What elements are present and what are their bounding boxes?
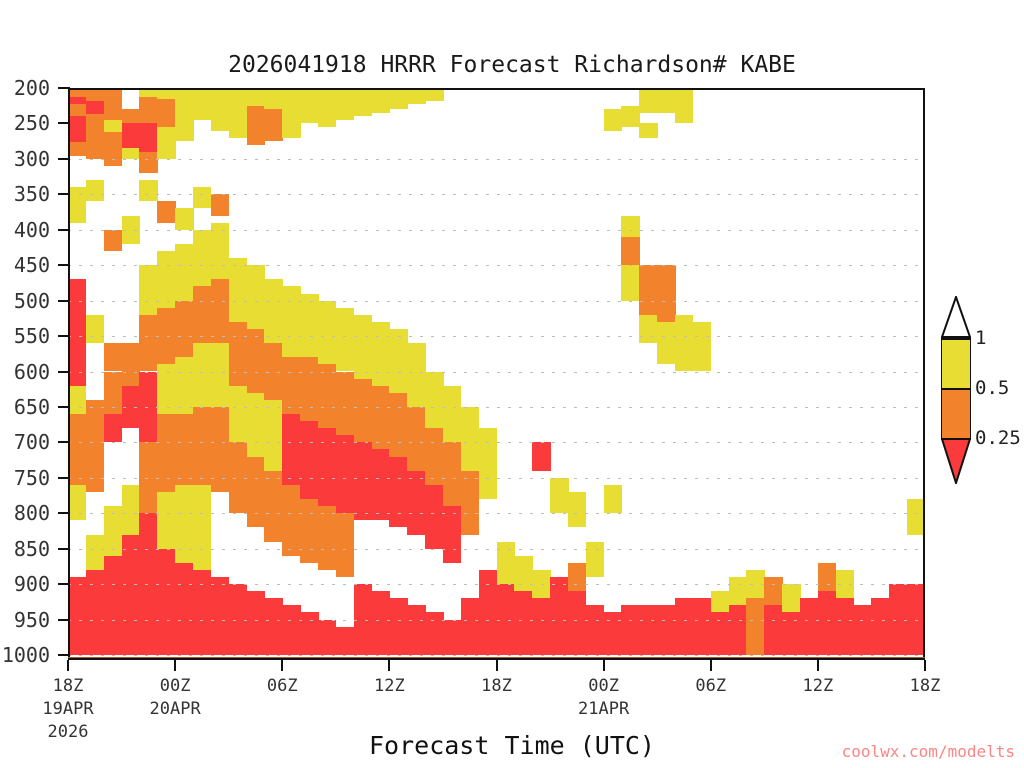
heatmap-cell [282, 116, 300, 137]
heatmap-cell [68, 386, 86, 414]
colorbar-bottom-arrow [941, 438, 971, 484]
heatmap-plot-area [68, 88, 925, 660]
x-axis-tick-label: 18Z [910, 676, 941, 696]
y-axis-tick [58, 300, 70, 302]
heatmap-cell [211, 407, 229, 492]
y-axis-tick [58, 619, 70, 621]
heatmap-cell [407, 407, 425, 471]
gridline [68, 159, 925, 160]
heatmap-cell [104, 132, 122, 159]
heatmap-cell [264, 88, 282, 109]
gridline [68, 194, 925, 195]
heatmap-cell [586, 605, 604, 655]
y-axis-tick-label: 250 [0, 111, 50, 135]
chart-title: 2026041918 HRRR Forecast Richardson# KAB… [0, 52, 1024, 78]
heatmap-cell [336, 308, 354, 372]
heatmap-cell [229, 258, 247, 322]
colorbar: 10.50.25 [941, 296, 971, 486]
heatmap-cell [372, 322, 390, 386]
heatmap-cell [211, 223, 229, 280]
heatmap-cell [461, 407, 479, 471]
heatmap-cell [193, 230, 211, 287]
x-axis-tick-label: 12Z [374, 676, 405, 696]
y-axis-tick [58, 371, 70, 373]
heatmap-cell [122, 123, 140, 148]
heatmap-cell [157, 127, 175, 159]
heatmap-cell [461, 598, 479, 655]
heatmap-cell [372, 449, 390, 520]
y-axis-tick-label: 300 [0, 147, 50, 171]
heatmap-cell [568, 591, 586, 655]
heatmap-cell [300, 421, 318, 499]
heatmap-cell [514, 556, 532, 591]
heatmap-cell [443, 442, 461, 506]
heatmap-cell [354, 442, 372, 520]
heatmap-cell [782, 584, 800, 612]
heatmap-cell [746, 598, 764, 655]
y-axis-tick-label: 950 [0, 608, 50, 632]
heatmap-cell [247, 106, 265, 145]
heatmap-cell [407, 471, 425, 535]
heatmap-cell [318, 301, 336, 365]
heatmap-cell [443, 506, 461, 563]
colorbar-label: 0.25 [975, 427, 1021, 449]
colorbar-level-line [941, 388, 971, 390]
x-axis-tick [388, 660, 390, 671]
heatmap-cell [282, 485, 300, 556]
colorbar-label: 0.5 [975, 377, 1009, 399]
heatmap-cell [657, 88, 675, 113]
heatmap-cell [318, 88, 336, 127]
heatmap-cell [104, 556, 122, 655]
heatmap-cell [175, 357, 193, 414]
heatmap-cell [318, 620, 336, 655]
gridline [68, 513, 925, 514]
x-axis-tick [496, 660, 498, 671]
terrain-band [68, 657, 925, 658]
colorbar-segment-yellow [941, 338, 971, 388]
heatmap-cell [193, 88, 211, 120]
y-axis-tick [58, 229, 70, 231]
x-axis-date-label: 20APR [150, 699, 201, 719]
heatmap-cell [282, 414, 300, 485]
heatmap-cell [68, 129, 86, 142]
heatmap-cell [247, 329, 265, 393]
heatmap-cell [68, 142, 86, 156]
heatmap-cell [68, 485, 86, 520]
heatmap-cell [264, 598, 282, 655]
gridline [68, 549, 925, 550]
heatmap-cell [139, 97, 157, 124]
heatmap-cell [175, 88, 193, 113]
heatmap-cell [639, 265, 657, 315]
heatmap-cell [407, 605, 425, 655]
heatmap-cell [657, 322, 675, 365]
heatmap-cell [675, 315, 693, 372]
heatmap-cell [193, 407, 211, 485]
heatmap-cell [318, 506, 336, 570]
heatmap-cell [389, 598, 407, 655]
y-axis-tick-label: 600 [0, 360, 50, 384]
heatmap-cell [443, 386, 461, 443]
heatmap-cell [175, 244, 193, 301]
heatmap-cell [532, 598, 550, 655]
heatmap-cell [389, 88, 407, 109]
heatmap-cell [407, 343, 425, 407]
x-axis-tick [924, 660, 926, 671]
heatmap-cell [764, 605, 782, 655]
y-axis-tick [58, 87, 70, 89]
heatmap-cell [354, 315, 372, 379]
heatmap-cell [800, 598, 818, 655]
heatmap-cell [157, 99, 175, 127]
heatmap-cell [122, 343, 140, 386]
y-axis-tick [58, 583, 70, 585]
heatmap-cell [818, 563, 836, 591]
heatmap-cell [336, 627, 354, 655]
heatmap-cell [479, 428, 497, 499]
y-axis-tick [58, 158, 70, 160]
gridline [68, 620, 925, 621]
heatmap-cell [86, 101, 104, 114]
heatmap-cell [211, 194, 229, 215]
heatmap-cell [104, 230, 122, 251]
heatmap-cell [122, 109, 140, 123]
heatmap-cell [175, 563, 193, 655]
heatmap-cell [86, 88, 104, 101]
heatmap-cell [461, 471, 479, 535]
y-axis-tick [58, 654, 70, 656]
heatmap-cell [104, 88, 122, 101]
heatmap-cell [621, 106, 639, 127]
heatmap-cell [247, 265, 265, 329]
y-axis-tick-label: 750 [0, 466, 50, 490]
heatmap-cell [86, 132, 104, 159]
heatmap-cell [836, 598, 854, 655]
y-axis-tick-label: 800 [0, 501, 50, 525]
gridline [68, 655, 925, 656]
heatmap-cell [86, 180, 104, 201]
heatmap-cell [193, 343, 211, 407]
heatmap-cell [193, 286, 211, 343]
heatmap-cell [229, 386, 247, 443]
heatmap-cell [247, 88, 265, 106]
heatmap-cell [139, 152, 157, 173]
colorbar-level-line [941, 338, 971, 340]
heatmap-cell [639, 605, 657, 655]
y-axis-tick [58, 335, 70, 337]
y-axis-tick [58, 406, 70, 408]
heatmap-cell [157, 549, 175, 655]
heatmap-cell [300, 357, 318, 421]
heatmap-cell [425, 428, 443, 485]
heatmap-cell [639, 88, 657, 113]
y-axis-tick [58, 122, 70, 124]
heatmap-cell [264, 471, 282, 542]
x-axis-tick-label: 00Z [160, 676, 191, 696]
heatmap-cell [139, 123, 157, 151]
x-axis-tick-label: 06Z [267, 676, 298, 696]
heatmap-cell [104, 414, 122, 442]
x-axis-tick [174, 660, 176, 671]
heatmap-cell [139, 180, 157, 201]
gridline [68, 372, 925, 373]
x-axis-tick-label: 12Z [803, 676, 834, 696]
heatmap-cell [229, 322, 247, 386]
heatmap-cell [175, 485, 193, 563]
heatmap-cell [68, 414, 86, 442]
heatmap-cell [657, 605, 675, 655]
heatmap-cell [175, 208, 193, 229]
heatmap-cell [407, 88, 425, 104]
colorbar-label: 1 [975, 327, 986, 349]
heatmap-cell [675, 88, 693, 123]
heatmap-cell [389, 393, 407, 457]
gridline [68, 407, 925, 408]
x-axis-date-label: 21APR [578, 699, 629, 719]
heatmap-cell [818, 591, 836, 655]
heatmap-cell [657, 265, 675, 322]
heatmap-cell [86, 114, 104, 132]
heatmap-cell [139, 265, 157, 315]
heatmap-cell [621, 216, 639, 237]
credit-watermark: coolwx.com/modelts [0, 742, 1015, 761]
heatmap-cell [443, 620, 461, 655]
heatmap-cell [211, 279, 229, 343]
heatmap-cell [211, 88, 229, 131]
heatmap-cell [425, 88, 443, 101]
heatmap-cell [68, 116, 86, 129]
heatmap-cell [764, 577, 782, 605]
heatmap-cell [336, 88, 354, 120]
heatmap-cell [514, 591, 532, 655]
heatmap-cell [157, 88, 175, 99]
heatmap-cell [675, 598, 693, 655]
heatmap-cell [389, 457, 407, 528]
heatmap-cell [693, 322, 711, 372]
heatmap-cell [907, 499, 925, 513]
heatmap-cell [425, 372, 443, 429]
heatmap-cell [157, 201, 175, 222]
heatmap-cell [139, 88, 157, 97]
y-axis-tick-label: 450 [0, 253, 50, 277]
heatmap-cell [336, 372, 354, 436]
y-axis-tick [58, 477, 70, 479]
heatmap-cell [193, 187, 211, 208]
heatmap-cell [175, 414, 193, 485]
x-axis-tick [67, 660, 69, 671]
heatmap-cell [264, 279, 282, 343]
x-axis-tick-label: 00Z [588, 676, 619, 696]
heatmap-cell [372, 386, 390, 450]
heatmap-cell [604, 109, 622, 130]
y-axis-tick [58, 193, 70, 195]
heatmap-cell [122, 148, 140, 159]
heatmap-cell [229, 88, 247, 138]
heatmap-cell [372, 88, 390, 113]
heatmap-cell [211, 577, 229, 655]
heatmap-cell [157, 251, 175, 308]
heatmap-cell [157, 492, 175, 549]
heatmap-cell [372, 591, 390, 655]
y-axis-tick-label: 900 [0, 572, 50, 596]
y-axis-tick-label: 500 [0, 289, 50, 313]
heatmap-cell [479, 570, 497, 655]
heatmap-cell [247, 393, 265, 457]
x-axis-tick [710, 660, 712, 671]
y-axis-tick-label: 700 [0, 430, 50, 454]
heatmap-cell [86, 315, 104, 343]
heatmap-cell [568, 563, 586, 591]
x-axis-tick [281, 660, 283, 671]
y-axis-labels: 2002503003504004505005506006507007508008… [0, 0, 56, 768]
gridline [68, 265, 925, 266]
heatmap-cell [532, 442, 550, 470]
heatmap-cell [68, 88, 86, 97]
heatmap-cell [621, 265, 639, 300]
heatmap-cell [175, 301, 193, 358]
heatmap-cell [247, 591, 265, 655]
heatmap-cell [550, 577, 568, 655]
y-axis-tick-label: 400 [0, 218, 50, 242]
heatmap-cell [550, 478, 568, 513]
heatmap-cell [193, 485, 211, 570]
gridline [68, 442, 925, 443]
heatmap-cell [639, 123, 657, 137]
x-axis-tick-label: 06Z [695, 676, 726, 696]
heatmap-cell [318, 428, 336, 506]
colorbar-segment-orange [941, 388, 971, 438]
heatmap-cell [604, 485, 622, 513]
heatmap-cell [193, 570, 211, 655]
y-axis-tick [58, 264, 70, 266]
heatmap-cell [282, 88, 300, 116]
heatmap-cell [211, 343, 229, 407]
heatmap-cell [854, 605, 872, 655]
gridline [68, 336, 925, 337]
heatmap-cell [586, 542, 604, 577]
heatmap-cell [282, 605, 300, 655]
gridline [68, 301, 925, 302]
gridline [68, 584, 925, 585]
gridline [68, 478, 925, 479]
heatmap-cell [354, 379, 372, 443]
heatmap-cell [122, 535, 140, 655]
y-axis-tick [58, 441, 70, 443]
heatmap-cell [318, 364, 336, 428]
y-axis-tick-label: 200 [0, 76, 50, 100]
heatmap-cell [354, 88, 372, 116]
heatmap-cell [86, 535, 104, 570]
heatmap-cell [86, 442, 104, 492]
heatmap-cell [264, 400, 282, 471]
heatmap-cell [711, 591, 729, 612]
heatmap-cell [175, 113, 193, 141]
y-axis-tick [58, 512, 70, 514]
heatmap-cell [300, 88, 318, 123]
heatmap-cell [300, 294, 318, 358]
chart-root: 2026041918 HRRR Forecast Richardson# KAB… [0, 0, 1024, 768]
y-axis-tick-label: 550 [0, 324, 50, 348]
heatmap-cell [282, 357, 300, 414]
heatmap-cell [247, 457, 265, 528]
heatmap-cell [729, 577, 747, 605]
heatmap-cell [282, 286, 300, 357]
heatmap-cell [425, 485, 443, 549]
heatmap-cell [104, 120, 122, 132]
heatmap-cell [568, 492, 586, 527]
y-axis-tick-label: 350 [0, 182, 50, 206]
heatmap-cell [122, 485, 140, 535]
x-axis-tick [603, 660, 605, 671]
heatmap-cell [300, 499, 318, 563]
heatmap-cell [68, 104, 86, 117]
heatmap-cell [693, 598, 711, 655]
heatmap-cell [621, 605, 639, 655]
heatmap-cell [639, 315, 657, 343]
y-axis-tick-label: 650 [0, 395, 50, 419]
heatmap-cell [907, 513, 925, 534]
heatmap-cell [104, 343, 122, 371]
x-axis-tick-label: 18Z [481, 676, 512, 696]
heatmap-cell [157, 414, 175, 492]
heatmap-cell [68, 279, 86, 385]
x-axis-tick-label: 18Z [53, 676, 84, 696]
heatmap-cell [336, 513, 354, 577]
heatmap-cell [871, 598, 889, 655]
heatmap-cell [139, 315, 157, 372]
heatmap-cell [68, 577, 86, 655]
y-axis-tick-label: 1000 [0, 643, 50, 667]
heatmap-cell [104, 101, 122, 120]
gridline [68, 230, 925, 231]
heatmap-cell [68, 198, 86, 219]
heatmap-cell [104, 159, 122, 166]
heatmap-cell [729, 605, 747, 655]
heatmap-cell [336, 435, 354, 513]
y-axis-tick-label: 850 [0, 537, 50, 561]
heatmap-cell [86, 570, 104, 655]
heatmap-cell [389, 329, 407, 393]
heatmap-cell [264, 109, 282, 141]
x-axis-date-label: 19APR [42, 699, 93, 719]
y-axis-tick [58, 548, 70, 550]
x-axis-tick [817, 660, 819, 671]
colorbar-top-arrow [941, 296, 971, 338]
heatmap-cell [621, 237, 639, 265]
